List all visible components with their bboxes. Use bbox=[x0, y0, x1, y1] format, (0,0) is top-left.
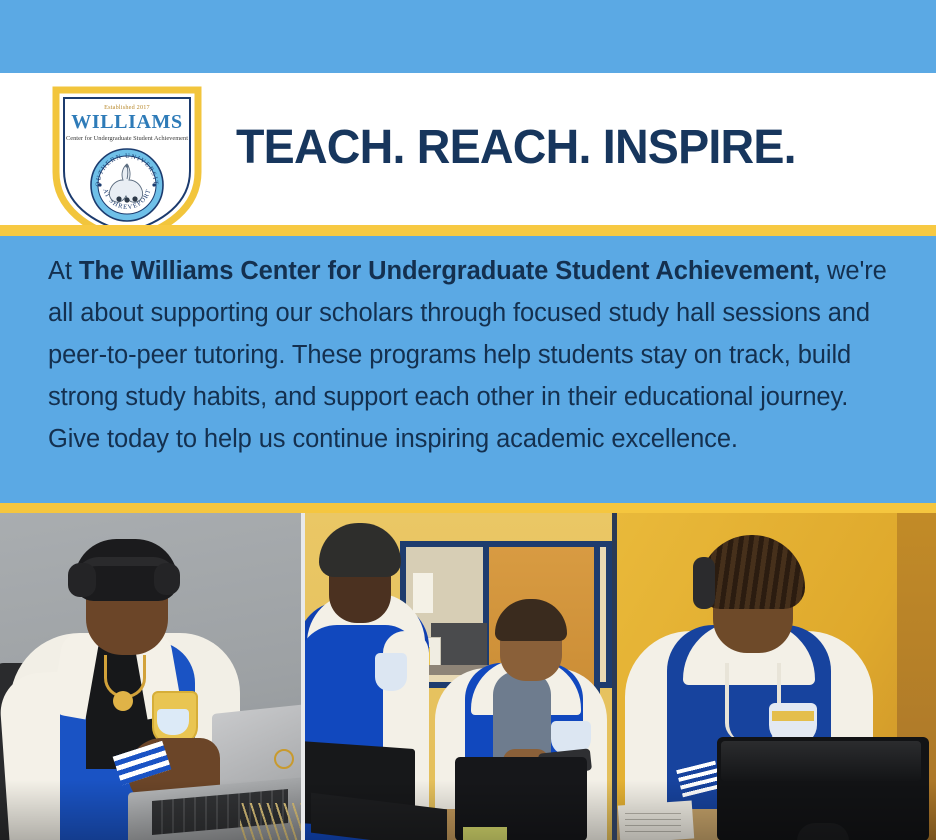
svg-text:Center for Undergraduate Stude: Center for Undergraduate Student Achieve… bbox=[66, 135, 188, 142]
photo-right-paper-lines bbox=[625, 813, 681, 835]
photo-strip bbox=[0, 513, 936, 840]
body-rest: we're all about supporting our scholars … bbox=[48, 257, 887, 453]
photo-left-headphone-cup bbox=[68, 563, 96, 597]
svg-text:WILLIAMS: WILLIAMS bbox=[71, 111, 183, 133]
williams-center-logo: Established 2017 WILLIAMS Center for Und… bbox=[48, 80, 206, 240]
photo-left-pendant bbox=[113, 691, 133, 711]
photo-middle-sticky-note bbox=[463, 827, 507, 840]
photo-left-laptop-badge bbox=[274, 749, 294, 769]
body-lead-bold: The Williams Center for Undergraduate St… bbox=[79, 257, 820, 285]
photo-middle-student-b-tee bbox=[493, 671, 551, 757]
body-paragraph: At The Williams Center for Undergraduate… bbox=[48, 250, 888, 460]
photo-middle-wall-paper bbox=[413, 573, 433, 613]
photo-right-laptop-screen bbox=[721, 741, 921, 781]
photo-left bbox=[0, 513, 301, 840]
photo-left-headphone-cup-2 bbox=[154, 563, 180, 595]
svg-text:Established 2017: Established 2017 bbox=[104, 104, 150, 111]
gold-divider-top bbox=[0, 225, 936, 236]
photo-left-plant bbox=[240, 803, 301, 840]
photo-left-jacket-patch-inner bbox=[157, 709, 189, 735]
photo-right-headset-on-desk bbox=[797, 823, 849, 840]
top-blue-band bbox=[0, 0, 936, 73]
photo-middle bbox=[305, 513, 612, 840]
body-lead-plain: At bbox=[48, 257, 79, 285]
gold-divider-bottom bbox=[0, 503, 936, 513]
poster-canvas: Established 2017 WILLIAMS Center for Und… bbox=[0, 0, 936, 840]
shield-crest-icon: Established 2017 WILLIAMS Center for Und… bbox=[48, 80, 206, 240]
photo-right-patch-band bbox=[772, 711, 814, 721]
photo-right-headphone bbox=[693, 557, 715, 609]
photo-middle-student-a-patch bbox=[375, 653, 407, 691]
photo-right bbox=[617, 513, 936, 840]
poster-headline: TEACH. REACH. INSPIRE. bbox=[236, 124, 876, 172]
